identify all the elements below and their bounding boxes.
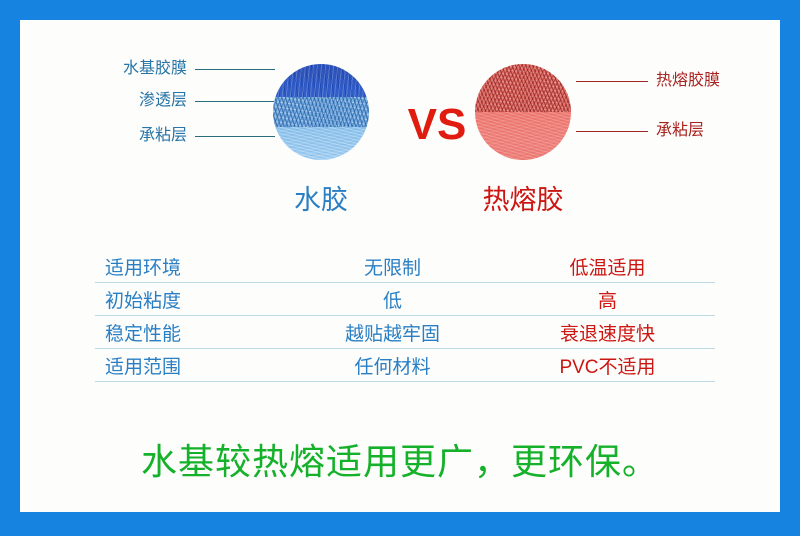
poster-inner-frame: 水基胶膜 渗透层 承粘层 VS bbox=[20, 20, 780, 512]
leader-line-icon bbox=[195, 101, 275, 102]
hot-melt-layer-labels: 热熔胶膜 承粘层 bbox=[576, 70, 776, 142]
table-cell-attribute: 适用范围 bbox=[95, 352, 285, 379]
layer-band-hot-melt-film bbox=[475, 64, 571, 112]
leader-line-icon bbox=[195, 69, 275, 70]
layer-band-penetration bbox=[273, 97, 369, 128]
vs-label: VS bbox=[402, 103, 472, 147]
layer-label-row-adhesion: 承粘层 bbox=[50, 125, 275, 147]
table-cell-attribute: 稳定性能 bbox=[95, 319, 285, 346]
table-row: 初始粘度 低 高 bbox=[95, 283, 715, 316]
layer-label-penetration: 渗透层 bbox=[139, 93, 187, 109]
table-cell-water-glue: 任何材料 bbox=[285, 352, 500, 379]
table-cell-water-glue: 越贴越牢固 bbox=[285, 319, 500, 346]
hot-melt-cross-section bbox=[475, 64, 571, 160]
leader-line-icon bbox=[576, 81, 648, 82]
table-cell-hot-melt: 衰退速度快 bbox=[500, 319, 715, 346]
poster-root: 水基胶膜 渗透层 承粘层 VS bbox=[0, 0, 800, 536]
table-row: 稳定性能 越贴越牢固 衰退速度快 bbox=[95, 316, 715, 349]
layer-label-row-water-film: 水基胶膜 bbox=[50, 58, 275, 80]
comparison-table: 适用环境 无限制 低温适用 初始粘度 低 高 稳定性能 越贴越牢固 衰退速度快 … bbox=[95, 250, 715, 382]
table-row: 适用环境 无限制 低温适用 bbox=[95, 250, 715, 283]
table-cell-water-glue: 低 bbox=[285, 286, 500, 313]
water-glue-layer-labels: 水基胶膜 渗透层 承粘层 bbox=[50, 58, 275, 147]
layer-label-row-hot-melt-adhesion: 承粘层 bbox=[576, 120, 776, 142]
layer-label-hot-melt-film: 热熔胶膜 bbox=[656, 73, 720, 89]
table-cell-hot-melt: 低温适用 bbox=[500, 253, 715, 280]
leader-line-icon bbox=[576, 131, 648, 132]
layer-label-adhesion: 承粘层 bbox=[139, 128, 187, 144]
table-row: 适用范围 任何材料 PVC不适用 bbox=[95, 349, 715, 382]
table-cell-hot-melt: PVC不适用 bbox=[500, 352, 715, 379]
slogan-text: 水基较热熔适用更广，更环保。 bbox=[20, 440, 780, 483]
layer-label-water-film: 水基胶膜 bbox=[123, 61, 187, 77]
layer-label-hot-melt-adhesion: 承粘层 bbox=[656, 123, 704, 139]
table-cell-water-glue: 无限制 bbox=[285, 253, 500, 280]
layer-band-water-film bbox=[273, 64, 369, 97]
table-cell-attribute: 适用环境 bbox=[95, 253, 285, 280]
water-glue-caption: 水胶 bbox=[246, 184, 396, 216]
leader-line-icon bbox=[195, 136, 275, 137]
comparison-section: 水基胶膜 渗透层 承粘层 VS bbox=[20, 20, 780, 235]
water-glue-cross-section bbox=[273, 64, 369, 160]
layer-label-row-penetration: 渗透层 bbox=[50, 90, 275, 112]
table-cell-hot-melt: 高 bbox=[500, 286, 715, 313]
layer-label-row-hot-melt-film: 热熔胶膜 bbox=[576, 70, 776, 92]
layer-band-hot-melt-adhesion bbox=[475, 112, 571, 160]
table-cell-attribute: 初始粘度 bbox=[95, 286, 285, 313]
hot-melt-caption: 热熔胶 bbox=[448, 184, 598, 216]
layer-band-adhesion bbox=[273, 127, 369, 160]
